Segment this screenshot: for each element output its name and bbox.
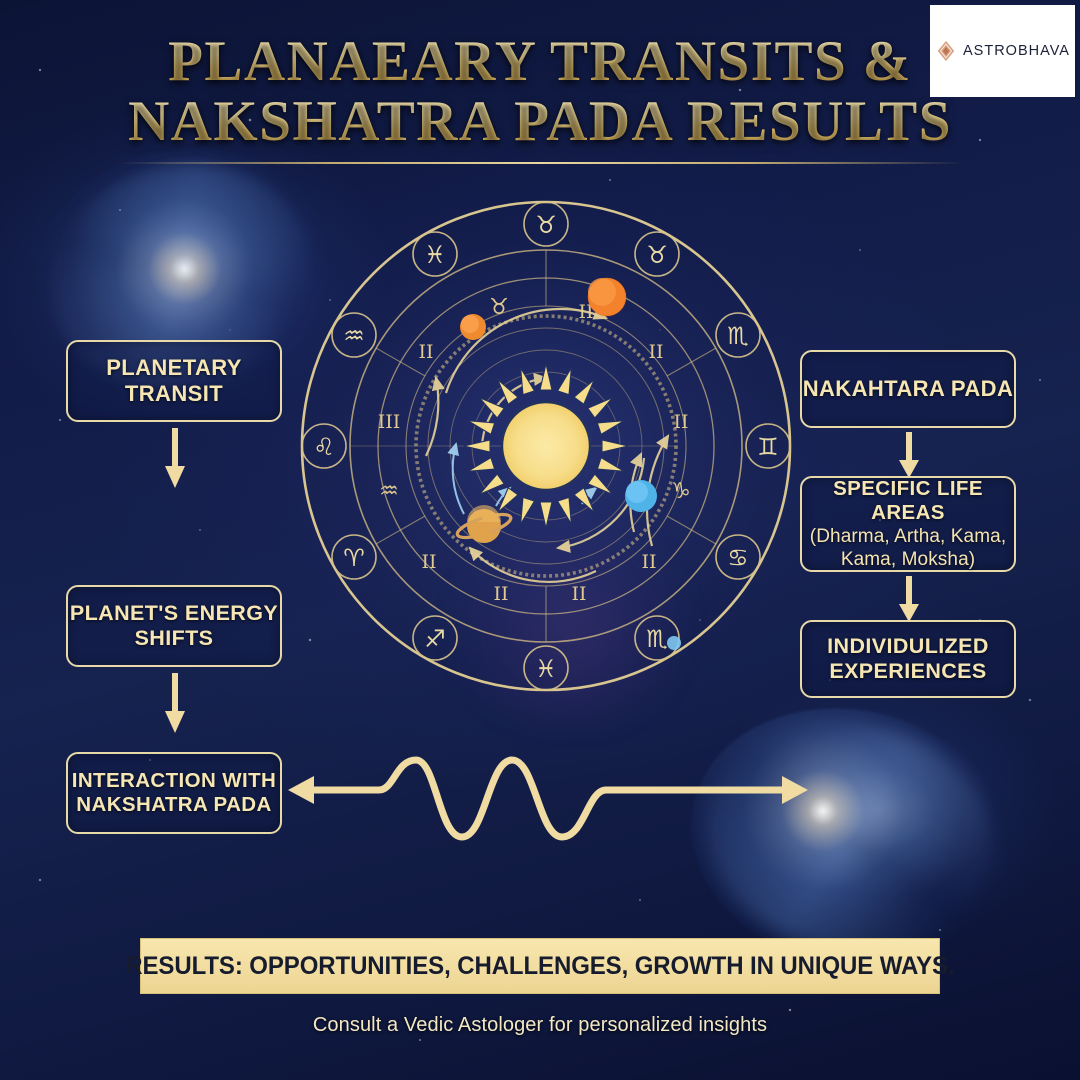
svg-text:♒: ♒ xyxy=(379,479,399,504)
svg-text:♏: ♏ xyxy=(727,322,749,350)
results-banner: RESULTS: OPPORTUNITIES, CHALLENGES, GROW… xyxy=(140,938,940,994)
svg-text:♓: ♓ xyxy=(424,241,446,269)
small-blue-planet xyxy=(667,636,681,650)
arrow-down-icon-right-1 xyxy=(896,432,922,480)
page-title-line-1: PLANAEARY TRANSITS & xyxy=(0,32,1080,92)
svg-text:II: II xyxy=(493,583,508,605)
arrow-down-icon-right-2 xyxy=(896,576,922,624)
svg-text:♉: ♉ xyxy=(535,211,557,239)
svg-text:II: II xyxy=(571,583,586,605)
svg-text:♉: ♉ xyxy=(646,241,668,269)
flow-box-energy-shifts[interactable]: PLANET'S ENERGY SHIFTS xyxy=(66,585,282,667)
flow-box-energy-shifts-label: PLANET'S ENERGY SHIFTS xyxy=(68,601,280,651)
svg-text:♋: ♋ xyxy=(727,544,749,572)
flow-box-individualized-experiences[interactable]: INDIVIDULIZED EXPERIENCES xyxy=(800,620,1016,698)
flow-box-nakshatra-pada-label: NAKAHTARA PADA xyxy=(803,376,1014,402)
svg-text:♐: ♐ xyxy=(424,625,446,653)
flow-box-individualized-label: INDIVIDULIZED EXPERIENCES xyxy=(802,634,1014,684)
svg-text:♏: ♏ xyxy=(646,625,668,653)
arrow-down-icon-left-2 xyxy=(162,673,188,735)
consult-note: Consult a Vedic Astologer for personaliz… xyxy=(0,1014,1080,1037)
zodiac-wheel-graphic: ♉ ♉ ♏ ♊ ♋ ♏ ♓ ♐ ♈ ♌ ♒ ♓ ♉ II II II ♑ II xyxy=(296,196,796,696)
svg-text:II: II xyxy=(418,341,433,363)
svg-text:II: II xyxy=(648,341,663,363)
title-underline-divider xyxy=(118,162,963,164)
flow-box-life-areas-label: SPECIFIC LIFE AREAS (Dharma, Artha, Kama… xyxy=(808,477,1008,571)
svg-text:II: II xyxy=(641,551,656,573)
svg-text:II: II xyxy=(673,411,688,433)
flow-box-interaction-label: INTERACTION WITH NAKSHATRA PADA xyxy=(68,769,280,817)
flow-box-interaction-nakshatra-pada[interactable]: INTERACTION WITH NAKSHATRA PADA xyxy=(66,752,282,834)
svg-text:♌: ♌ xyxy=(313,433,335,461)
flow-box-nakshatra-pada[interactable]: NAKAHTARA PADA xyxy=(800,350,1016,428)
svg-text:♊: ♊ xyxy=(757,433,779,461)
svg-text:III: III xyxy=(378,411,401,433)
flow-box-planetary-transit[interactable]: PLANETARY TRANSIT xyxy=(66,340,282,422)
flow-box-life-areas-title: SPECIFIC LIFE AREAS xyxy=(833,477,983,524)
svg-text:♓: ♓ xyxy=(535,655,557,683)
flow-box-specific-life-areas[interactable]: SPECIFIC LIFE AREAS (Dharma, Artha, Kama… xyxy=(800,476,1016,572)
arrow-down-icon-left-1 xyxy=(162,428,188,490)
svg-text:♑: ♑ xyxy=(671,479,691,504)
svg-text:♉: ♉ xyxy=(489,295,509,320)
svg-text:♈: ♈ xyxy=(343,544,365,572)
flow-box-planetary-transit-label: PLANETARY TRANSIT xyxy=(68,355,280,406)
page-title: PLANAEARY TRANSITS & NAKSHATRA PADA RESU… xyxy=(0,32,1080,153)
double-headed-wavy-arrow-icon xyxy=(284,742,814,852)
poster-canvas: ASTROBHAVA PLANAEARY TRANSITS & NAKSHATR… xyxy=(0,0,1080,1080)
results-banner-text: RESULTS: OPPORTUNITIES, CHALLENGES, GROW… xyxy=(125,952,954,981)
page-title-line-2: NAKSHATRA PADA RESULTS xyxy=(0,92,1080,152)
svg-text:II: II xyxy=(421,551,436,573)
flow-box-life-areas-subtitle: (Dharma, Artha, Kama, Kama, Moksha) xyxy=(808,526,1008,571)
svg-text:♒: ♒ xyxy=(343,322,365,350)
